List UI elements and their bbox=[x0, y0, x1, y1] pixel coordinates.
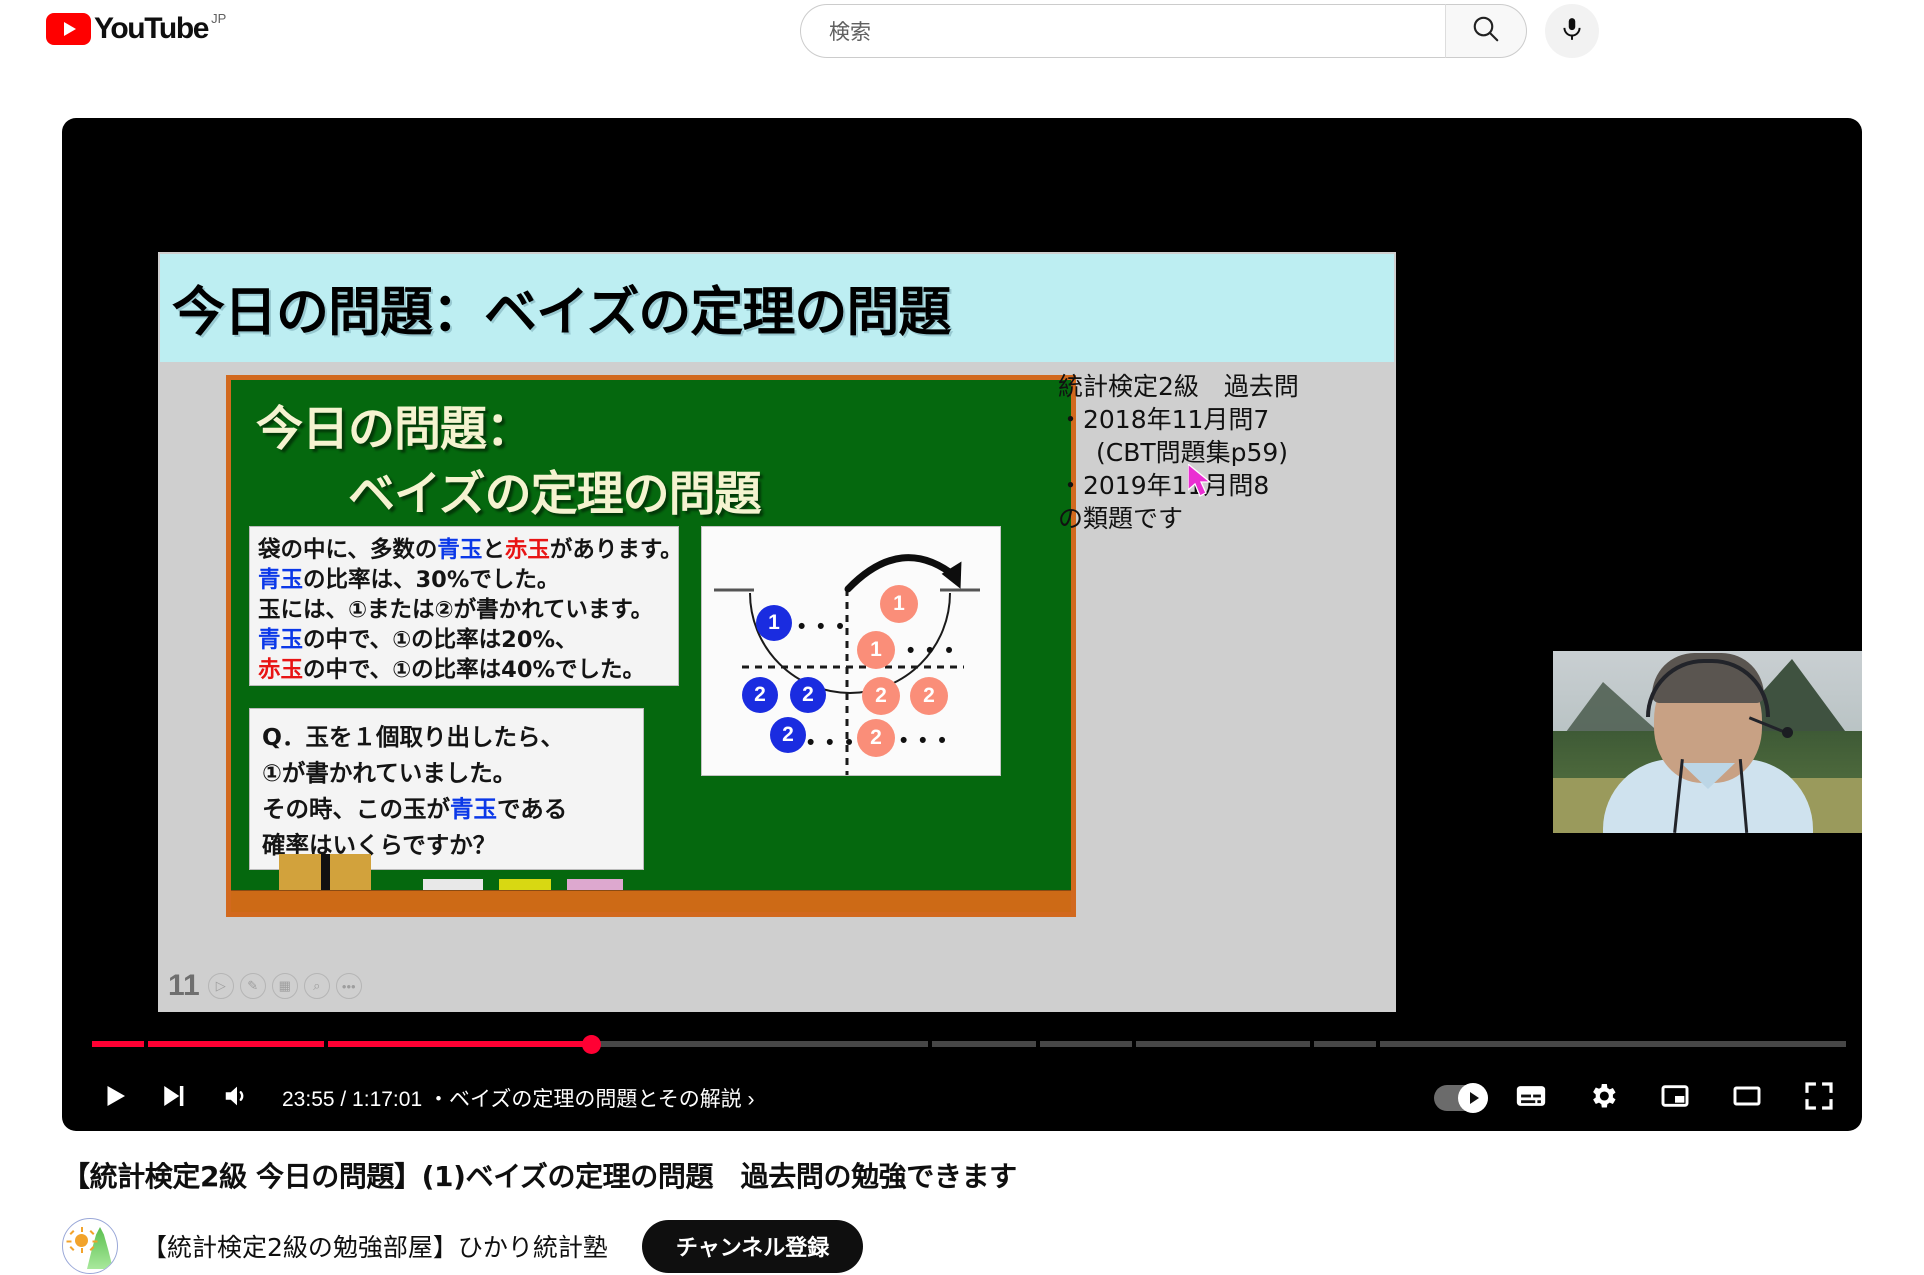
search-group: 検索 bbox=[800, 4, 1599, 58]
ball-blue-2a: 2 bbox=[742, 677, 778, 713]
youtube-header: YouTube JP 検索 bbox=[0, 0, 1924, 68]
question-box: Q．玉を１個取り出したら、①が書かれていました。その時、この玉が青玉である確率は… bbox=[249, 708, 644, 870]
progress-scrubber[interactable] bbox=[582, 1035, 601, 1054]
ball-pink-1a: 1 bbox=[880, 585, 918, 623]
fullscreen-button[interactable] bbox=[1790, 1069, 1848, 1127]
dots-blue-bottom: • • • bbox=[807, 731, 856, 755]
slide-toolbar: 11 ▷ ✎ ▦ ⌕ ••• bbox=[160, 962, 1394, 1010]
youtube-logo-text: YouTube bbox=[94, 10, 208, 48]
next-button[interactable] bbox=[144, 1069, 202, 1127]
reference-line-1: 統計検定2級 過去問 bbox=[1058, 370, 1299, 403]
youtube-logo[interactable]: YouTube JP bbox=[46, 10, 226, 48]
more-icon[interactable]: ••• bbox=[336, 973, 362, 999]
dots-blue-top: • • • bbox=[798, 615, 847, 639]
channel-row: 【統計検定2級の勉強部屋】ひかり統計塾 チャンネル登録 bbox=[62, 1218, 863, 1274]
theater-mode-button[interactable] bbox=[1718, 1069, 1776, 1127]
chalk-yellow bbox=[499, 879, 551, 890]
chapter-segment-4[interactable] bbox=[932, 1041, 1036, 1047]
slide-title-bar: 今日の問題：ベイズの定理の問題 bbox=[160, 254, 1394, 362]
search-placeholder: 検索 bbox=[829, 16, 871, 46]
chapter-segment-2[interactable] bbox=[148, 1041, 324, 1047]
chapter-segment-7[interactable] bbox=[1314, 1041, 1376, 1047]
microphone-icon bbox=[1559, 16, 1585, 47]
volume-icon bbox=[222, 1081, 252, 1116]
autoplay-toggle[interactable] bbox=[1434, 1085, 1488, 1111]
gear-icon bbox=[1587, 1080, 1619, 1117]
slides-icon[interactable]: ▦ bbox=[272, 973, 298, 999]
player-controls: 23:55 / 1:17:01 ・ベイズの定理の問題とその解説 › bbox=[62, 1019, 1862, 1131]
ball-pink-2b: 2 bbox=[910, 677, 948, 715]
voice-search-button[interactable] bbox=[1545, 4, 1599, 58]
question-line-3: その時、この玉が青玉である bbox=[262, 791, 643, 827]
chalkboard-heading-line1: 今日の問題： bbox=[256, 390, 1056, 459]
settings-button[interactable] bbox=[1574, 1069, 1632, 1127]
autoplay-knob-icon bbox=[1458, 1083, 1488, 1113]
volume-button[interactable] bbox=[208, 1069, 266, 1127]
fullscreen-icon bbox=[1803, 1080, 1835, 1117]
subtitles-button[interactable] bbox=[1502, 1069, 1560, 1127]
problem-line-1: 袋の中に、多数の青玉と赤玉があります。 bbox=[258, 535, 678, 565]
slide-page-number: 11 bbox=[168, 969, 200, 1003]
miniplayer-button[interactable] bbox=[1646, 1069, 1704, 1127]
chalkboard-frame: 今日の問題： ベイズの定理の問題 袋の中に、多数の青玉と赤玉があります。青玉の比… bbox=[226, 375, 1076, 917]
chalkboard: 今日の問題： ベイズの定理の問題 袋の中に、多数の青玉と赤玉があります。青玉の比… bbox=[231, 380, 1071, 912]
question-line-1: Q．玉を１個取り出したら、 bbox=[262, 719, 643, 755]
ball-blue-1: 1 bbox=[756, 605, 792, 641]
video-title: 【統計検定2級 今日の問題】(1)ベイズの定理の問題 過去問の勉強できます bbox=[62, 1155, 1017, 1195]
blackboard-eraser bbox=[279, 854, 371, 890]
video-player[interactable]: 今日の問題：ベイズの定理の問題 今日の問題： ベイズの定理の問題 袋の中に、多数… bbox=[62, 118, 1862, 1131]
play-button[interactable] bbox=[86, 1069, 144, 1127]
play-icon bbox=[100, 1081, 130, 1116]
pen-icon[interactable]: ✎ bbox=[240, 973, 266, 999]
reference-line-5: の類題です bbox=[1058, 502, 1299, 535]
theater-mode-icon bbox=[1731, 1080, 1763, 1117]
chapter-segment-3[interactable] bbox=[328, 1041, 928, 1047]
chapter-segment-1[interactable] bbox=[92, 1041, 144, 1047]
search-button[interactable] bbox=[1445, 4, 1527, 58]
youtube-play-icon bbox=[46, 13, 91, 45]
ball-pink-2a: 2 bbox=[862, 677, 900, 715]
progress-bar[interactable] bbox=[70, 1041, 1854, 1047]
presenter-webcam-overlay bbox=[1553, 651, 1862, 833]
search-input[interactable]: 検索 bbox=[800, 4, 1445, 58]
chalk-pink bbox=[567, 879, 623, 890]
ball-blue-2b: 2 bbox=[790, 677, 826, 713]
chalk-white bbox=[423, 879, 483, 890]
ball-pink-1b: 1 bbox=[857, 631, 895, 669]
subscribe-button[interactable]: チャンネル登録 bbox=[642, 1220, 863, 1273]
youtube-logo-country: JP bbox=[211, 11, 226, 26]
next-track-icon bbox=[158, 1081, 188, 1116]
chapter-segment-8[interactable] bbox=[1380, 1041, 1846, 1047]
dots-pink-bottom: • • • bbox=[900, 729, 949, 753]
zoom-icon[interactable]: ⌕ bbox=[304, 973, 330, 999]
problem-statement-box: 袋の中に、多数の青玉と赤玉があります。青玉の比率は、30%でした。玉には、①また… bbox=[249, 526, 679, 686]
time-and-chapter-display[interactable]: 23:55 / 1:17:01 ・ベイズの定理の問題とその解説 › bbox=[282, 1083, 755, 1113]
channel-name[interactable]: 【統計検定2級の勉強部屋】ひかり統計塾 bbox=[142, 1228, 608, 1264]
chalkboard-heading: 今日の問題： ベイズの定理の問題 bbox=[256, 390, 1056, 524]
question-line-2: ①が書かれていました。 bbox=[262, 755, 643, 791]
reference-text: 統計検定2級 過去問 ・2018年11月問7 (CBT問題集p59) ・2019… bbox=[1058, 370, 1299, 535]
presentation-slide: 今日の問題：ベイズの定理の問題 今日の問題： ベイズの定理の問題 袋の中に、多数… bbox=[158, 252, 1396, 1012]
autoplay-button[interactable] bbox=[1432, 1069, 1490, 1127]
reference-line-2: ・2018年11月問7 bbox=[1058, 403, 1299, 436]
problem-line-3: 玉には、①または②が書かれています。 bbox=[258, 595, 678, 625]
subtitles-icon bbox=[1514, 1079, 1548, 1118]
problem-line-4: 青玉の中で、①の比率は20%、 bbox=[258, 625, 678, 655]
chalkboard-ledge bbox=[231, 890, 1071, 912]
controls-right-row bbox=[1432, 1069, 1848, 1127]
ball-pink-2c: 2 bbox=[857, 719, 895, 757]
chapter-segment-5[interactable] bbox=[1040, 1041, 1132, 1047]
channel-avatar[interactable] bbox=[62, 1218, 118, 1274]
miniplayer-icon bbox=[1659, 1080, 1691, 1117]
chalkboard-heading-line2: ベイズの定理の問題 bbox=[348, 455, 1056, 524]
dots-pink-top: • • • bbox=[907, 639, 956, 663]
slide-title: 今日の問題：ベイズの定理の問題 bbox=[172, 270, 950, 346]
bag-of-balls-diagram: 1 • • • 2 2 2 • • • 1 1 • • • 2 2 2 • • … bbox=[701, 526, 1001, 776]
problem-line-2: 青玉の比率は、30%でした。 bbox=[258, 565, 678, 595]
chapter-segment-6[interactable] bbox=[1136, 1041, 1310, 1047]
present-icon[interactable]: ▷ bbox=[208, 973, 234, 999]
problem-line-5: 赤玉の中で、①の比率は40%でした。 bbox=[258, 655, 678, 685]
reference-line-4: ・2019年11月問8 bbox=[1058, 469, 1299, 502]
search-icon bbox=[1471, 14, 1501, 49]
ball-blue-2c: 2 bbox=[770, 717, 806, 753]
